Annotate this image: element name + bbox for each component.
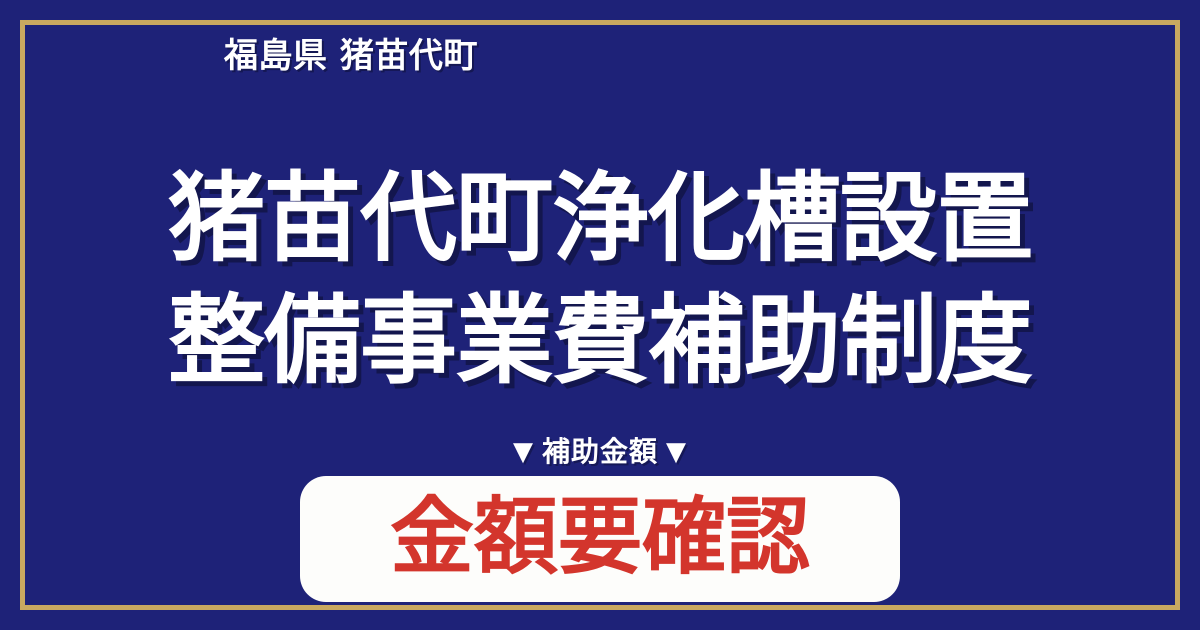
amount-label-row: ▼補助金額▼ [0,430,1200,470]
triangle-down-left-icon: ▼ [513,439,534,465]
triangle-down-right-icon: ▼ [666,439,687,465]
title-line-1: 猪苗代町浄化槽設置 [0,158,1200,280]
amount-badge: 金額要確認 [300,476,900,602]
region-header: 福島県 猪苗代町 [224,26,1124,78]
page-title: 猪苗代町浄化槽設置 整備事業費補助制度 [0,158,1200,402]
amount-value: 金額要確認 [390,495,810,579]
title-line-2: 整備事業費補助制度 [0,280,1200,402]
amount-label: 補助金額 [542,430,658,470]
subsidy-poster: 福島県 猪苗代町 猪苗代町浄化槽設置 整備事業費補助制度 ▼補助金額▼ 金額要確… [0,0,1200,630]
